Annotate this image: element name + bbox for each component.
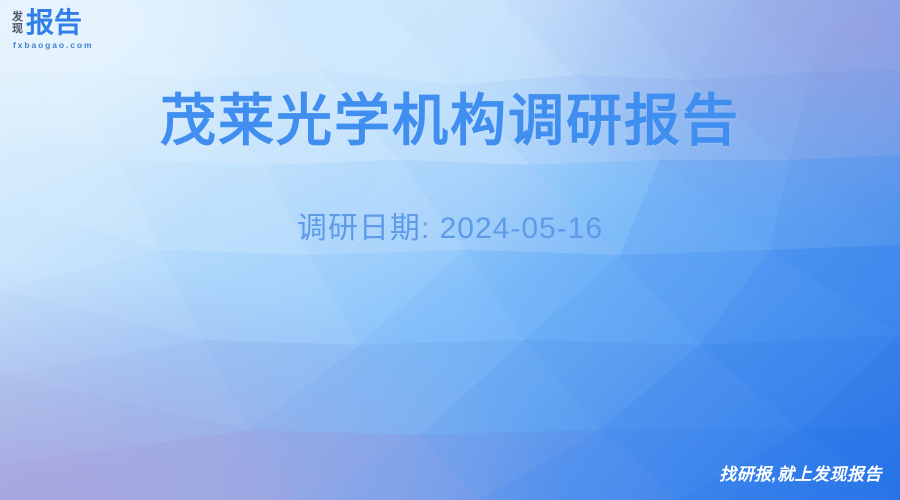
logo-char-fa: 发 xyxy=(12,12,23,23)
footer-tagline: 找研报,就上发现报告 xyxy=(719,460,882,485)
low-poly-background xyxy=(0,0,900,500)
logo-stacked-characters: 发 现 xyxy=(12,11,23,34)
logo-wordmark-row: 发 现 报告 xyxy=(12,9,82,37)
report-cover-slide: 发 现 报告 fxbaogao.com 茂莱光学机构调研报告 调研日期: 202… xyxy=(0,0,900,500)
logo-wordmark: 报告 xyxy=(26,9,82,37)
logo-char-xian: 现 xyxy=(12,24,23,35)
logo-website-url: fxbaogao.com xyxy=(13,40,93,50)
brand-logo[interactable]: 发 现 报告 fxbaogao.com xyxy=(12,9,93,50)
